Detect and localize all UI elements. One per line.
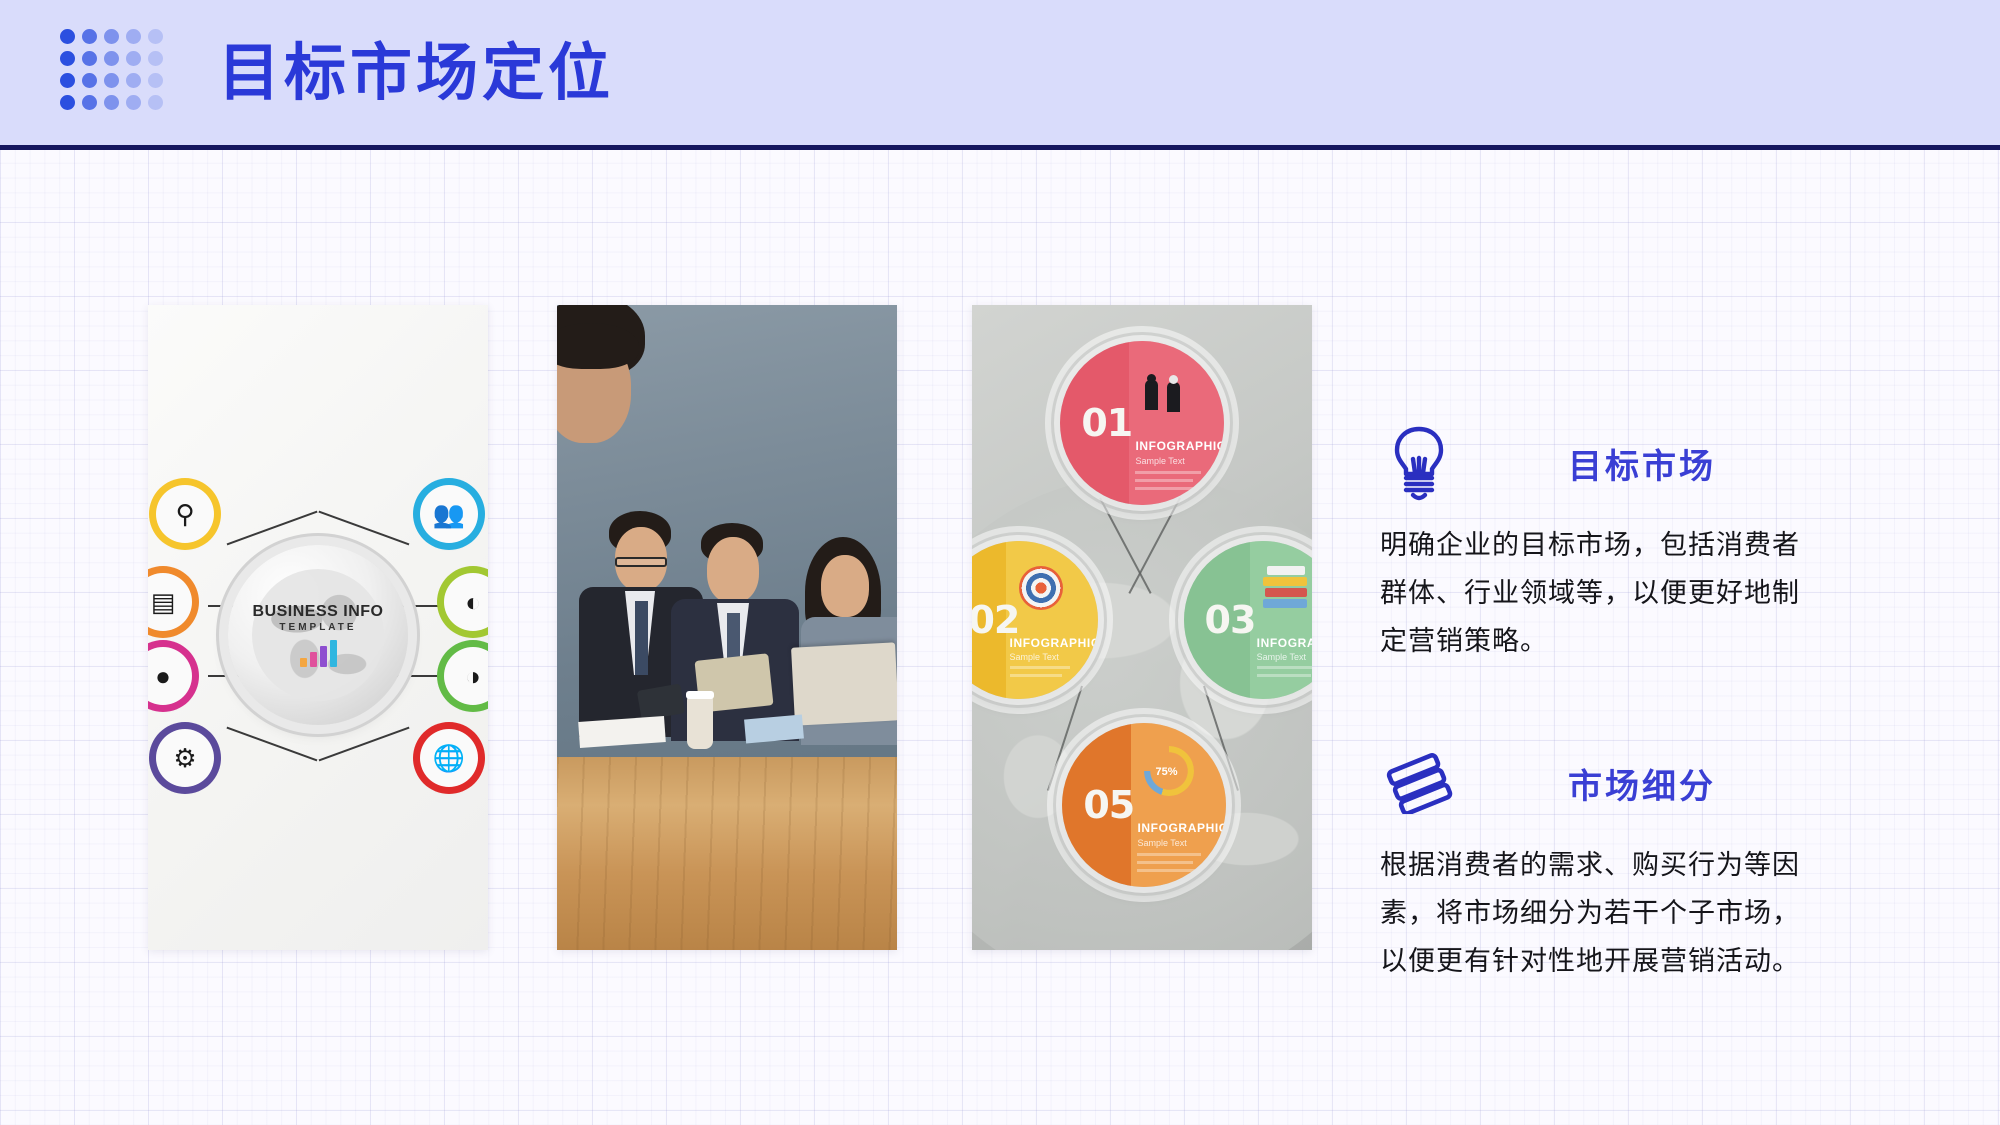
circle-subtitle: Sample Text <box>1010 652 1059 662</box>
photo-table <box>557 757 897 951</box>
dot <box>126 95 141 110</box>
dot <box>148 95 163 110</box>
text-block-market-segmentation: 市场细分 根据消费者的需求、购买行为等因素，将市场细分为若干个子市场，以便更有针… <box>1380 740 1850 986</box>
connector <box>319 511 410 545</box>
connector <box>319 727 410 761</box>
wheel-diagram: BUSINESS INFO TEMPLATE ⚲ ▤ ● ⚙ 👥 ◐ <box>148 305 488 950</box>
photo-laptop <box>791 642 897 725</box>
dot <box>104 73 119 88</box>
dot <box>148 51 163 66</box>
connector <box>227 511 318 545</box>
layers-diamond-icon <box>1380 752 1458 814</box>
block-title: 目标市场 <box>1568 439 1716 488</box>
block-title: 市场细分 <box>1568 759 1716 808</box>
globe-icon <box>252 569 384 701</box>
globe-icon[interactable]: 🌐 <box>420 729 478 787</box>
wheel-hub: BUSINESS INFO TEMPLATE <box>228 545 408 725</box>
circle-label: INFOGRAPHICS <box>1137 821 1226 835</box>
dot <box>104 51 119 66</box>
dot <box>60 51 75 66</box>
dot <box>148 29 163 44</box>
target-icon <box>1019 566 1063 610</box>
circle-01[interactable]: 01 INFOGRAPHICS Sample Text <box>1060 341 1224 505</box>
hub-subtitle: TEMPLATE <box>279 622 356 633</box>
page-title: 目标市场定位 <box>218 42 614 104</box>
image-business-info-wheel: BUSINESS INFO TEMPLATE ⚲ ▤ ● ⚙ 👥 ◐ <box>148 305 488 950</box>
circle-subtitle: Sample Text <box>1135 456 1184 466</box>
text-column: 目标市场 明确企业的目标市场，包括消费者群体、行业领域等，以便更好地制定营销策略… <box>1380 420 1850 1046</box>
circle-label: INFOGRAPHICS <box>1257 636 1312 650</box>
circle-subtitle: Sample Text <box>1137 838 1186 848</box>
circle-number: 05 <box>1083 783 1134 827</box>
slide-canvas: 目标市场定位 BUSINESS INFO TEMPLATE <box>0 0 2000 1125</box>
block-header: 市场细分 <box>1380 740 1850 826</box>
circle-number: 01 <box>1081 401 1132 445</box>
circle-number: 03 <box>1205 598 1256 642</box>
chart-icon[interactable]: ▤ <box>148 573 192 631</box>
dot <box>82 95 97 110</box>
shield-icon[interactable]: ◑ <box>444 647 488 705</box>
connector <box>227 727 318 761</box>
dot <box>126 51 141 66</box>
image-business-meeting-photo <box>557 305 897 950</box>
dot <box>60 29 75 44</box>
donut-value: 75% <box>1155 766 1177 778</box>
dot <box>82 29 97 44</box>
dot <box>126 29 141 44</box>
image-globe-circles-infographic: 01 INFOGRAPHICS Sample Text 02 <box>972 305 1312 950</box>
chat-icon[interactable]: ● <box>148 647 192 705</box>
gears-icon[interactable]: ⚙ <box>156 729 214 787</box>
bar-chart-icon <box>300 639 337 667</box>
people-icon[interactable]: 👥 <box>420 485 478 543</box>
business-people-icon <box>1145 374 1191 416</box>
circle-subtitle: Sample Text <box>1257 652 1306 662</box>
slide-content: BUSINESS INFO TEMPLATE ⚲ ▤ ● ⚙ 👥 ◐ <box>0 150 2000 1125</box>
dot <box>104 95 119 110</box>
circle-05[interactable]: 05 75% INFOGRAPHICS Sample Text <box>1062 723 1226 887</box>
block-header: 目标市场 <box>1380 420 1850 506</box>
block-body: 根据消费者的需求、购买行为等因素，将市场细分为若干个子市场，以便更有针对性地开展… <box>1380 842 1800 986</box>
circle-03[interactable]: 03 INFOGRAPHICS Sample Text <box>1184 541 1312 699</box>
block-body: 明确企业的目标市场，包括消费者群体、行业领域等，以便更好地制定营销策略。 <box>1380 522 1800 666</box>
dot-grid-decoration <box>60 29 170 117</box>
circle-label: INFOGRAPHICS <box>1135 439 1224 453</box>
dot <box>82 51 97 66</box>
photo-notebook <box>744 715 804 744</box>
circle-02[interactable]: 02 INFOGRAPHICS Sample Text <box>972 541 1098 699</box>
dot <box>82 73 97 88</box>
dot <box>60 95 75 110</box>
photo-coffee-cup <box>687 697 713 749</box>
dot <box>126 73 141 88</box>
slide-header: 目标市场定位 <box>0 0 2000 150</box>
dot <box>60 73 75 88</box>
search-icon[interactable]: ⚲ <box>156 485 214 543</box>
lightbulb-icon <box>1380 425 1458 501</box>
hub-title: BUSINESS INFO <box>253 603 384 621</box>
dot <box>104 29 119 44</box>
text-block-target-market: 目标市场 明确企业的目标市场，包括消费者群体、行业领域等，以便更好地制定营销策略… <box>1380 420 1850 666</box>
dot <box>148 73 163 88</box>
leaf-icon[interactable]: ◐ <box>444 573 488 631</box>
circle-label: INFOGRAPHICS <box>1010 636 1098 650</box>
books-icon <box>1263 566 1311 608</box>
